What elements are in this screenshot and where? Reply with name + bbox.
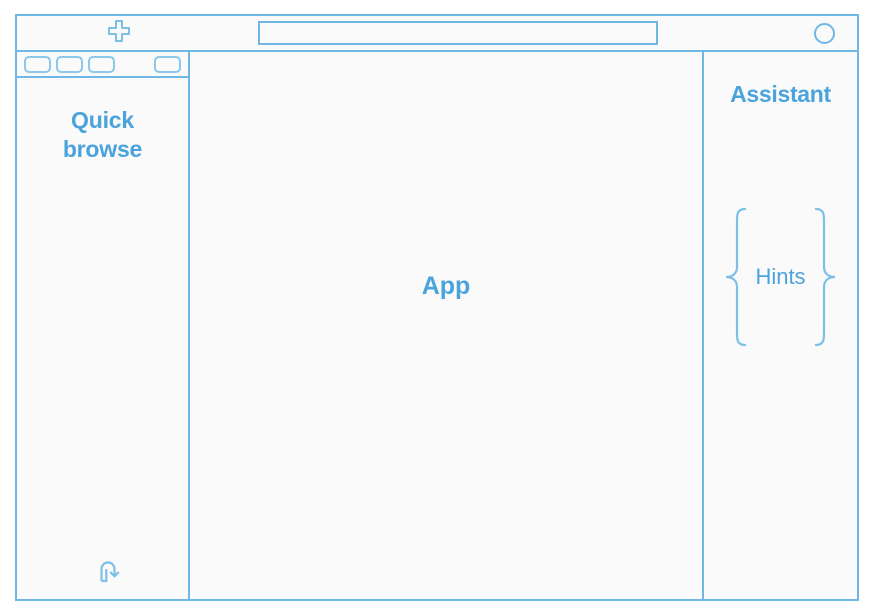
sidebar-tab-1[interactable] [24, 56, 51, 73]
u-turn-arrow-icon [94, 557, 124, 590]
sidebar-tab-strip [17, 52, 188, 78]
sidebar-tab-4[interactable] [154, 56, 181, 73]
app-content-panel[interactable]: App [190, 52, 704, 599]
url-input[interactable] [258, 21, 658, 45]
browser-window: Quick browse App A [15, 14, 859, 601]
app-title: App [422, 272, 471, 301]
plus-icon [106, 18, 132, 49]
quick-browse-sidebar: Quick browse [17, 52, 190, 599]
add-tab-button[interactable] [97, 16, 141, 50]
quick-browse-title-line-2: browse [17, 135, 188, 164]
sidebar-tab-2[interactable] [56, 56, 83, 73]
header-bar [17, 16, 857, 52]
sidebar-content: Quick browse [17, 78, 188, 599]
assistant-panel: Assistant Hints [704, 52, 857, 599]
hints-label: Hints [749, 264, 811, 290]
brace-open-icon [723, 207, 749, 347]
brace-close-icon [812, 207, 838, 347]
assistant-title: Assistant [704, 81, 857, 108]
quick-browse-title: Quick browse [17, 106, 188, 164]
window-body: Quick browse App A [17, 52, 857, 599]
sidebar-tab-3[interactable] [88, 56, 115, 73]
back-button[interactable] [92, 557, 126, 589]
hints-block: Hints [704, 204, 857, 350]
account-circle-icon[interactable] [814, 23, 835, 44]
quick-browse-title-line-1: Quick [17, 106, 188, 135]
